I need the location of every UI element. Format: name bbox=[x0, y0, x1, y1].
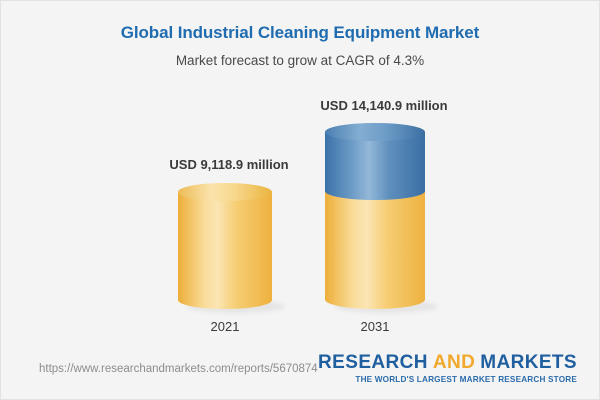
data-label-2031: USD 14,140.9 million bbox=[294, 98, 474, 113]
category-label-2031: 2031 bbox=[315, 319, 435, 334]
bar-chart-plot-area: USD 9,118.9 million 2021 USD 14,140.9 mi… bbox=[1, 1, 600, 346]
brand-word-research: RESEARCH bbox=[318, 352, 428, 373]
bar-2031[interactable] bbox=[325, 123, 425, 309]
chart-card: Global Industrial Cleaning Equipment Mar… bbox=[0, 0, 600, 400]
brand-tagline: THE WORLD'S LARGEST MARKET RESEARCH STOR… bbox=[318, 375, 577, 384]
bar-2021-body bbox=[178, 192, 272, 300]
bar-2031-segment-growth-bottom-cap bbox=[325, 182, 425, 200]
brand-word-markets: MARKETS bbox=[480, 352, 577, 373]
data-label-2021: USD 9,118.9 million bbox=[149, 157, 309, 172]
bar-2021-top-cap bbox=[178, 183, 272, 201]
bar-2021-bottom-cap bbox=[178, 291, 272, 309]
category-label-2021: 2021 bbox=[165, 319, 285, 334]
bar-2031-top-cap bbox=[325, 123, 425, 141]
footer: https://www.researchandmarkets.com/repor… bbox=[1, 345, 599, 399]
brand-wordmark: RESEARCHANDMARKETS bbox=[318, 353, 577, 373]
source-url-link[interactable]: https://www.researchandmarkets.com/repor… bbox=[39, 363, 318, 375]
brand-word-and: AND bbox=[433, 352, 475, 373]
bar-2031-foot-cap bbox=[325, 290, 425, 309]
brand-logo[interactable]: RESEARCHANDMARKETS THE WORLD'S LARGEST M… bbox=[318, 353, 577, 384]
bar-2021[interactable] bbox=[178, 183, 272, 309]
